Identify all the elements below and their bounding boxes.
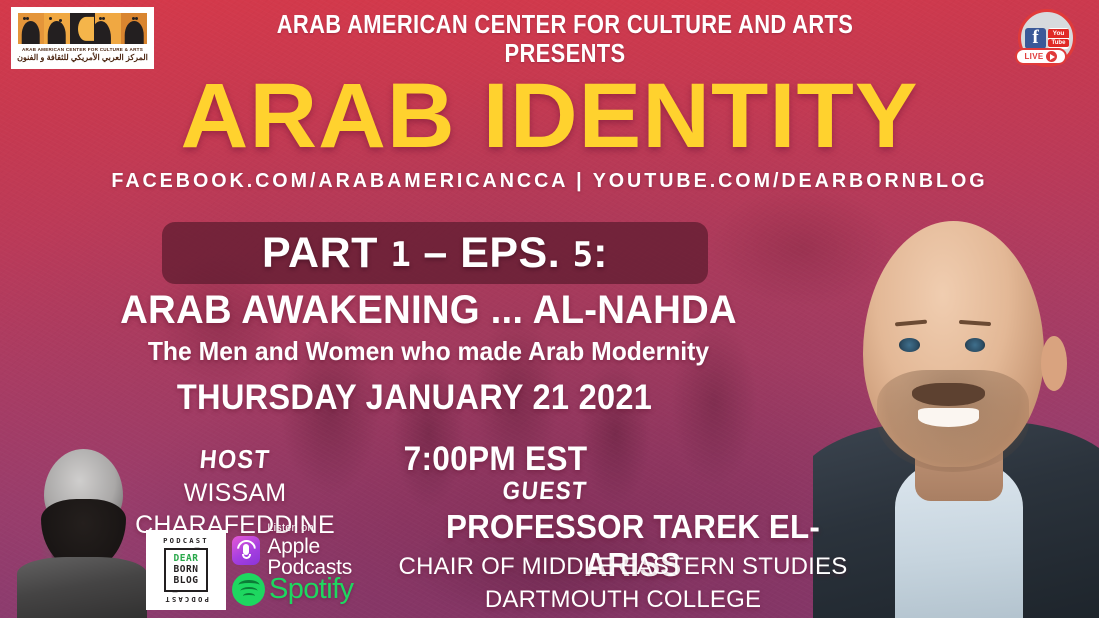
event-poster: ARAB AMERICAN CENTER FOR CULTURE & ARTS … bbox=[0, 0, 1099, 618]
part-word: PART bbox=[262, 229, 378, 278]
spotify-label: Spotify bbox=[269, 573, 353, 606]
social-badges[interactable]: You Tube LIVE bbox=[1015, 9, 1091, 65]
podcast-line-1: DEAR bbox=[174, 554, 199, 564]
page-title: ARAB IDENTITY bbox=[0, 73, 1099, 160]
episode-dash: – bbox=[423, 229, 447, 278]
event-date: THURSDAY JANUARY 21 2021 bbox=[29, 378, 800, 418]
presenter-heading: ARAB AMERICAN CENTER FOR CULTURE AND ART… bbox=[221, 11, 909, 68]
guest-label: GUEST bbox=[440, 477, 650, 506]
youtube-icon[interactable]: You Tube bbox=[1048, 28, 1069, 49]
live-badge[interactable]: LIVE bbox=[1015, 48, 1067, 65]
organization-logo: ARAB AMERICAN CENTER FOR CULTURE & ARTS … bbox=[11, 7, 154, 69]
apple-podcasts-badge[interactable]: Listen on Apple Podcasts bbox=[232, 533, 407, 567]
episode-text: PART 1 – EPS. 5 : bbox=[262, 229, 608, 278]
podcast-name-box: DEAR BORN BLOG bbox=[164, 548, 208, 592]
eps-word: EPS. bbox=[460, 229, 560, 278]
logo-arch-graphic bbox=[18, 13, 147, 44]
youtube-top-label: You bbox=[1048, 29, 1069, 38]
topic-subtitle: The Men and Women who made Arab Modernit… bbox=[21, 336, 835, 367]
youtube-bottom-label: Tube bbox=[1048, 39, 1069, 47]
social-urls: FACEBOOK.COM/ARABAMERICANCCA | YOUTUBE.C… bbox=[8, 170, 1091, 193]
presenter-line-1: ARAB AMERICAN CENTER FOR CULTURE AND ART… bbox=[221, 11, 909, 40]
podcast-ring-top: PODCAST bbox=[163, 536, 209, 545]
host-label: HOST bbox=[157, 444, 313, 475]
live-label: LIVE bbox=[1025, 52, 1044, 61]
episode-colon: : bbox=[593, 229, 608, 278]
spotify-badge[interactable]: Spotify bbox=[232, 570, 412, 608]
part-number: 1 bbox=[390, 235, 410, 275]
podcast-ring-bottom: PODCAST bbox=[163, 595, 209, 604]
topic-headline: ARAB AWAKENING ... AL-NAHDA bbox=[17, 288, 840, 333]
podcast-logo: PODCAST PODCAST PODCAST PODCAST DEAR BOR… bbox=[146, 530, 226, 610]
apple-listen-on-label: Listen on bbox=[267, 523, 407, 534]
play-icon bbox=[1046, 51, 1057, 62]
apple-podcasts-icon bbox=[232, 536, 260, 565]
guest-organization: DARTMOUTH COLLEGE bbox=[398, 586, 848, 614]
episode-banner: PART 1 – EPS. 5 : bbox=[162, 222, 708, 284]
logo-arabic-text: المركز العربي الأمريكي للثقافة و الفنون bbox=[17, 53, 148, 62]
spotify-icon bbox=[232, 573, 265, 606]
logo-english-text: ARAB AMERICAN CENTER FOR CULTURE & ARTS bbox=[22, 47, 143, 52]
podcast-line-2: BORN bbox=[174, 565, 199, 575]
eps-number: 5 bbox=[573, 235, 593, 275]
event-time: 7:00PM EST bbox=[278, 440, 712, 479]
podcast-line-3: BLOG bbox=[174, 576, 199, 586]
facebook-icon[interactable] bbox=[1025, 28, 1046, 49]
presenter-line-2: PRESENTS bbox=[221, 40, 909, 69]
guest-role: CHAIR OF MIDDLE EASTERN STUDIES bbox=[398, 553, 848, 581]
